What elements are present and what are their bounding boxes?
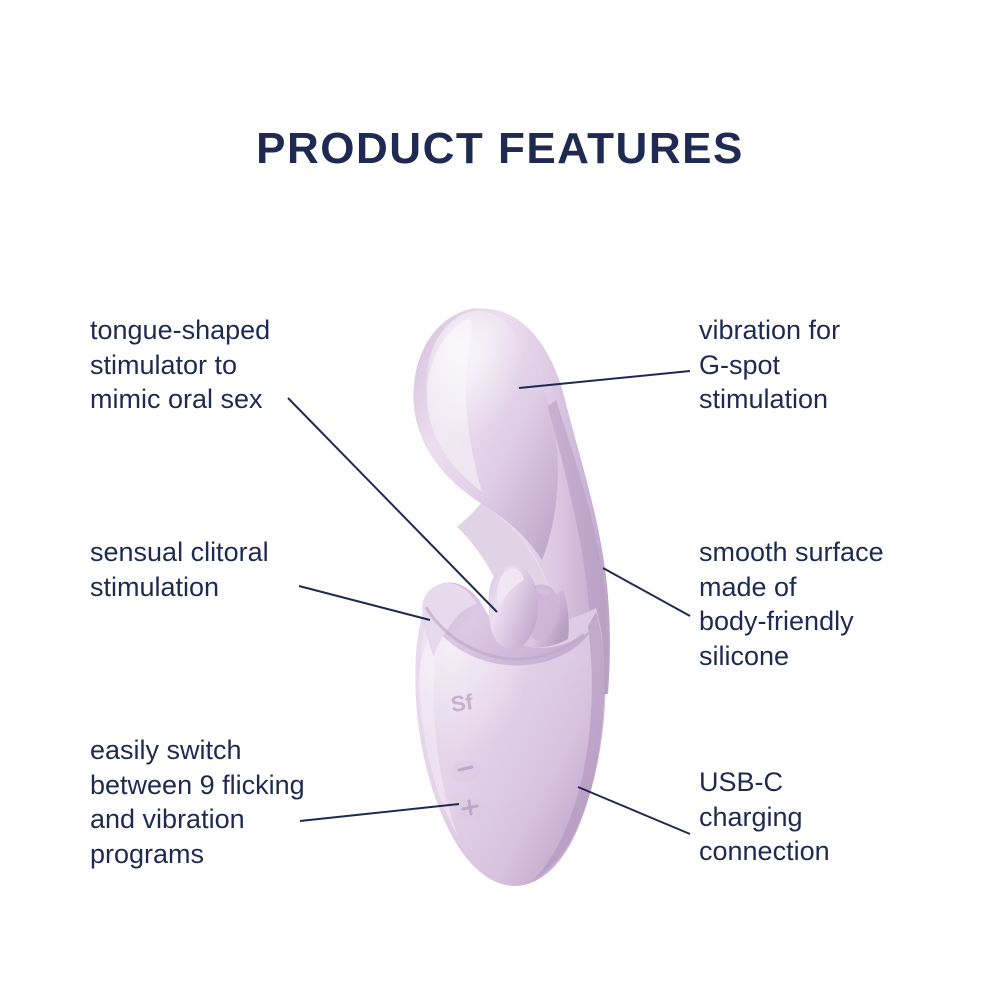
callout-tongue-shaped-stimulator: tongue-shaped stimulator to mimic oral s… [90,313,340,417]
callout-flicking-vibration-programs: easily switch between 9 flicking and vib… [90,733,370,871]
callout-usbc-charging: USB-C charging connection [699,765,939,869]
product-minus-button[interactable] [451,760,481,782]
callout-body-friendly-silicone: smooth surface made of body-friendly sil… [699,535,939,673]
callout-gspot-vibration: vibration for G-spot stimulation [699,313,939,417]
product-body: Sf [413,308,610,886]
product-head-gloss [426,311,530,459]
product-brand-emboss: Sf [449,689,475,717]
callout-sensual-clitoral-stimulation: sensual clitoral stimulation [90,535,340,604]
brand-mark-text: Sf [449,689,475,717]
product-features-infographic: PRODUCT FEATURES [0,0,1000,1000]
product-plus-button[interactable] [455,798,485,820]
